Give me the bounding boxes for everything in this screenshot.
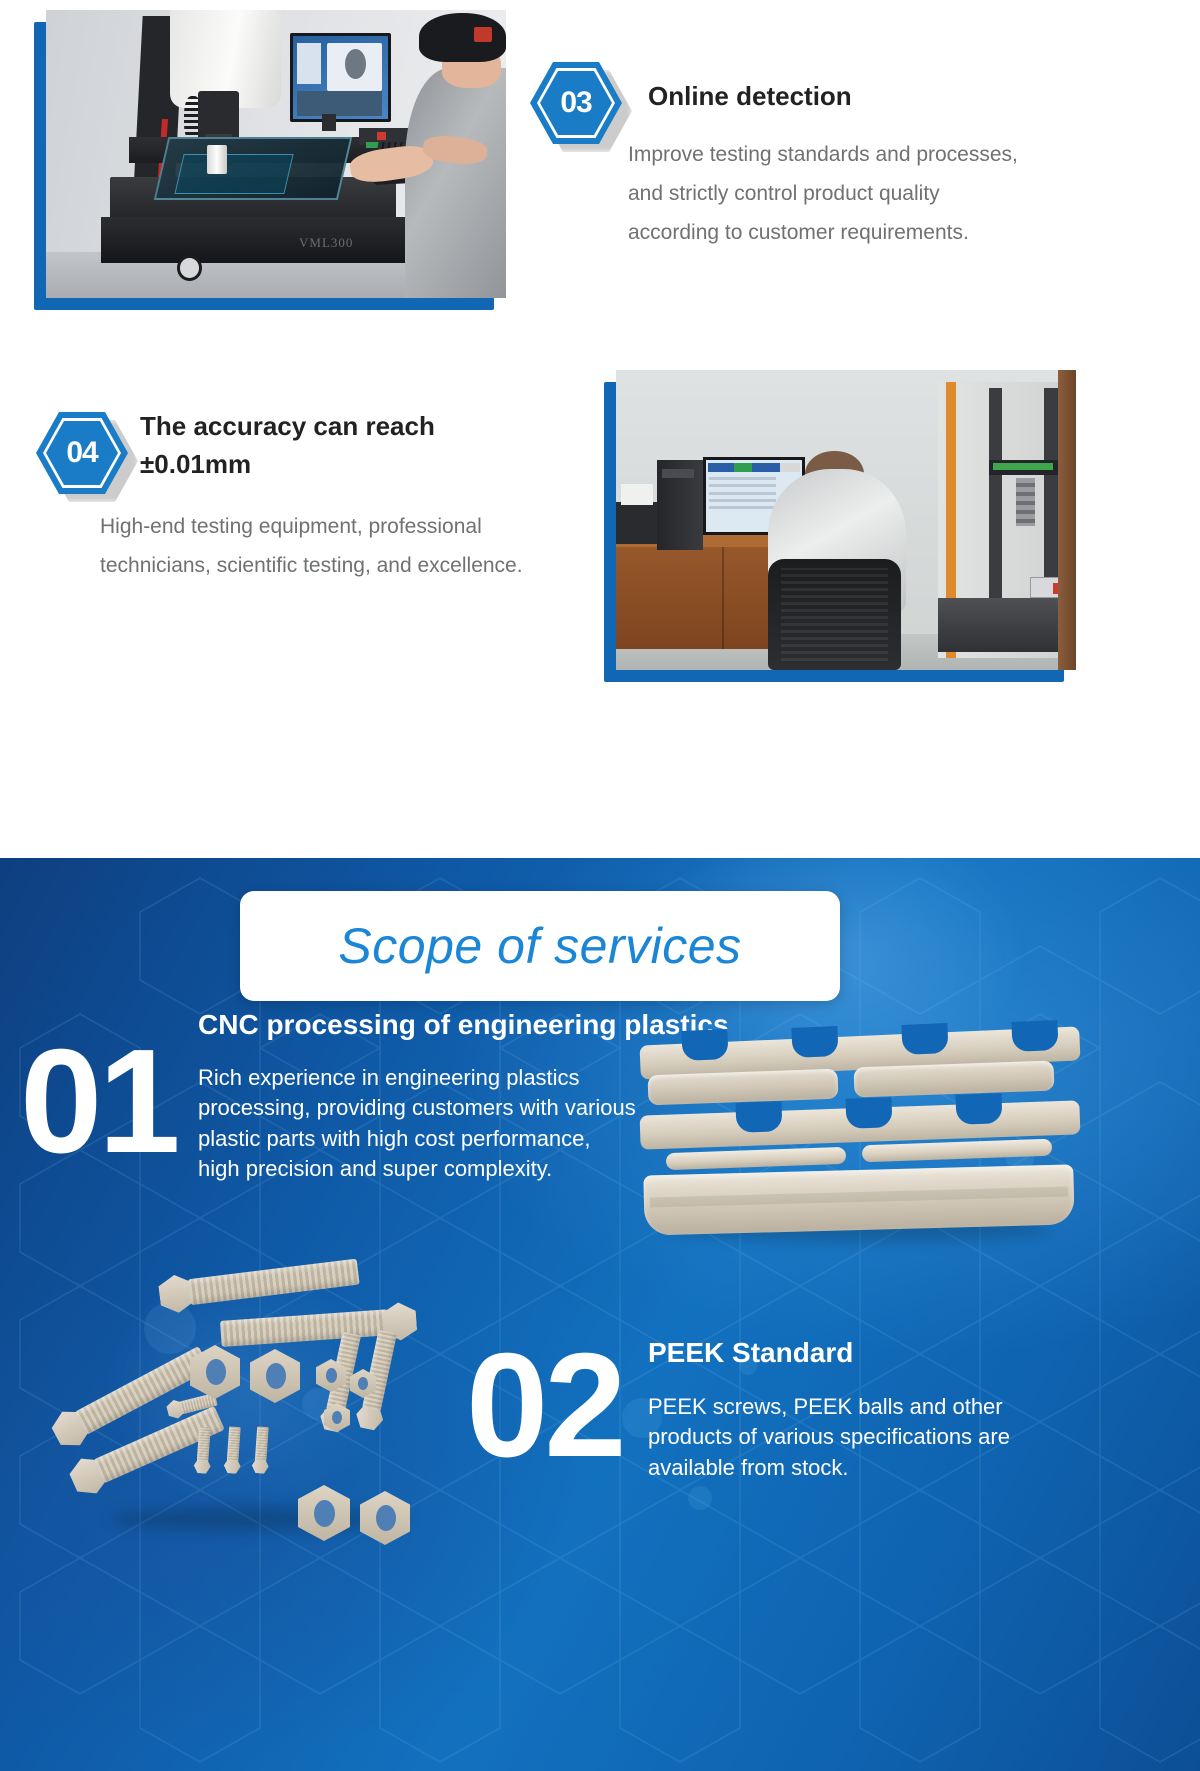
machine-model-label: VML300 xyxy=(299,235,353,251)
feature-number-04: 04 xyxy=(66,436,97,470)
product-image-bolts-nuts xyxy=(40,1275,460,1555)
service-title-02: PEEK Standard xyxy=(648,1336,1088,1370)
scope-heading: Scope of services xyxy=(338,917,741,975)
feature-number-03: 03 xyxy=(560,86,591,120)
scope-title-card: Scope of services xyxy=(240,891,840,1001)
photo-online-detection-image: VML300 xyxy=(46,10,506,298)
service-body-02: PEEK screws, PEEK balls and other produc… xyxy=(648,1392,1048,1483)
feature-title-04: The accuracy can reach ±0.01mm xyxy=(140,408,540,483)
feature-title-03: Online detection xyxy=(648,78,1068,116)
feature-badge-03: 03 xyxy=(530,62,622,144)
product-image-chain-links xyxy=(640,1030,1080,1255)
feature-body-03: Improve testing standards and processes,… xyxy=(628,136,1028,253)
photo-accuracy-testing-image xyxy=(616,370,1076,670)
service-number-01: 01 xyxy=(20,1028,177,1176)
feature-body-04: High-end testing equipment, professional… xyxy=(100,508,540,586)
service-number-02: 02 xyxy=(466,1332,623,1480)
features-section: VML300 03 Online detection Improve testi… xyxy=(0,0,1200,858)
photo-accuracy-testing xyxy=(604,382,1064,682)
photo-online-detection: VML300 xyxy=(34,22,494,310)
service-body-01: Rich experience in engineering plastics … xyxy=(198,1063,638,1184)
feature-badge-04: 04 xyxy=(36,412,128,494)
